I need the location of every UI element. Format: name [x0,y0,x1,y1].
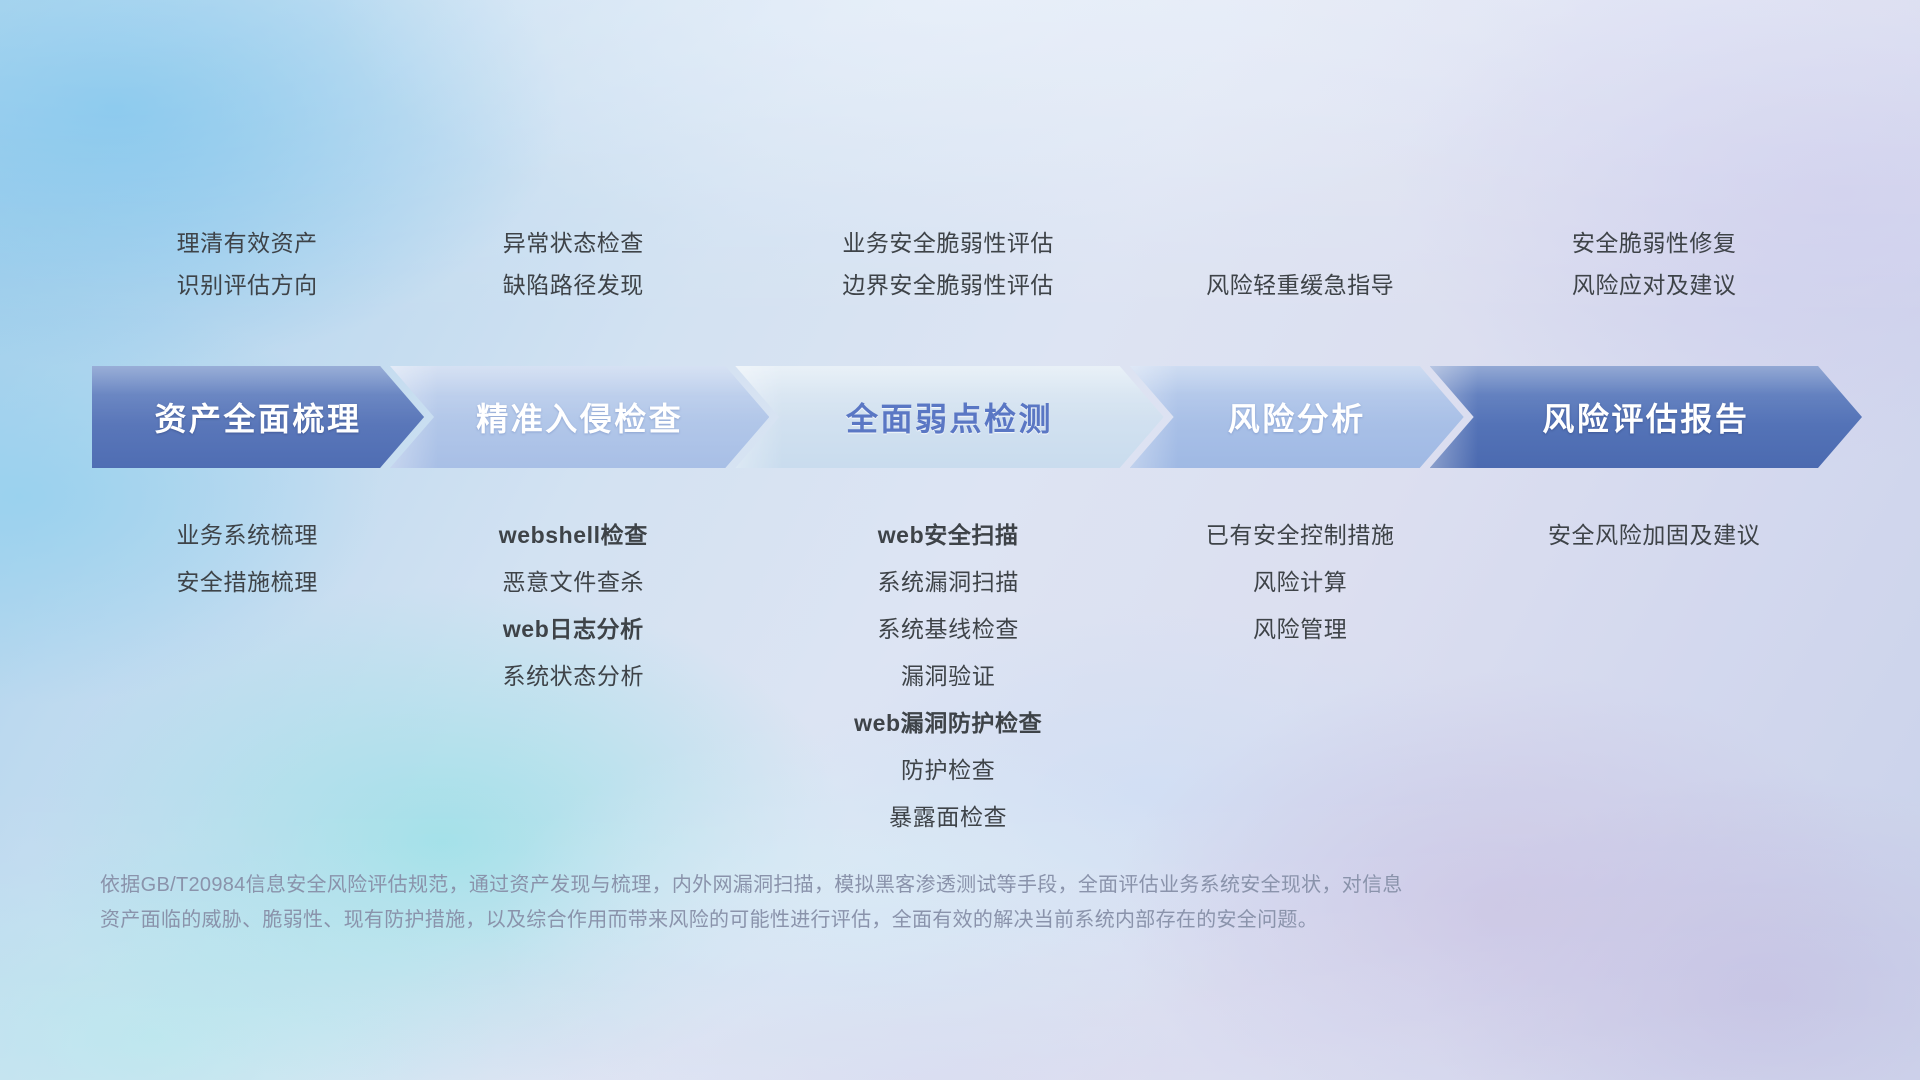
infographic-canvas: 理清有效资产识别评估方向异常状态检查缺陷路径发现业务安全脆弱性评估边界安全脆弱性… [0,0,1920,1080]
task-item: 系统状态分析 [502,660,644,692]
outcome-column-asset-inventory: 理清有效资产识别评估方向 [96,228,398,300]
task-item: 系统漏洞扫描 [877,566,1019,598]
task-item: 已有安全控制措施 [1206,519,1395,551]
task-column-asset-inventory: 业务系统梳理安全措施梳理 [96,505,398,598]
task-item: 漏洞验证 [901,660,995,692]
stage-chevron-risk-report[interactable]: 风险评估报告 [1430,366,1862,468]
task-item: 业务系统梳理 [176,519,318,551]
outcome-text: 异常状态检查 [503,228,644,258]
stage-chevron-risk-analysis[interactable]: 风险分析 [1130,366,1464,468]
outcome-column-risk-report: 安全脆弱性修复风险应对及建议 [1452,228,1856,300]
task-column-weakness-detection: web安全扫描系统漏洞扫描系统基线检查漏洞验证web漏洞防护检查防护检查暴露面检… [748,505,1148,833]
task-column-risk-analysis: 已有安全控制措施风险计算风险管理 [1148,505,1452,645]
task-item: 防护检查 [901,754,995,786]
outcome-text: 缺陷路径发现 [503,270,644,300]
stage-title: 全面弱点检测 [846,394,1053,440]
outcome-text: 边界安全脆弱性评估 [842,270,1054,300]
task-item: webshell检查 [499,519,648,551]
stage-chevron-asset-inventory[interactable]: 资产全面梳理 [92,366,424,468]
task-item: 风险计算 [1253,566,1347,598]
task-column-intrusion-check: webshell检查恶意文件查杀web日志分析系统状态分析 [398,505,748,692]
task-item: 安全措施梳理 [176,566,318,598]
task-item: web漏洞防护检查 [854,707,1042,739]
footer-line-2: 资产面临的威胁、脆弱性、现有防护措施，以及综合作用而带来风险的可能性进行评估，全… [100,903,1700,938]
stage-outcomes-row: 理清有效资产识别评估方向异常状态检查缺陷路径发现业务安全脆弱性评估边界安全脆弱性… [96,228,1856,300]
outcome-column-intrusion-check: 异常状态检查缺陷路径发现 [398,228,748,300]
footer-description: 依据GB/T20984信息安全风险评估规范，通过资产发现与梳理，内外网漏洞扫描，… [100,868,1700,938]
task-item: 风险管理 [1253,613,1347,645]
task-item: 恶意文件查杀 [502,566,644,598]
stage-chevron-intrusion-check[interactable]: 精准入侵检查 [390,366,769,468]
stage-title: 风险评估报告 [1542,394,1749,440]
task-item: web安全扫描 [878,519,1019,551]
process-chevron-band: 资产全面梳理精准入侵检查全面弱点检测风险分析风险评估报告 [92,366,1862,468]
outcome-text: 安全脆弱性修复 [1572,228,1737,258]
content-frame: 理清有效资产识别评估方向异常状态检查缺陷路径发现业务安全脆弱性评估边界安全脆弱性… [0,0,1920,1080]
outcome-column-weakness-detection: 业务安全脆弱性评估边界安全脆弱性评估 [748,228,1148,300]
outcome-text: 业务安全脆弱性评估 [842,228,1054,258]
outcome-text: 识别评估方向 [177,270,318,300]
task-item: 系统基线检查 [877,613,1019,645]
stage-title: 资产全面梳理 [155,394,362,440]
stage-chevron-weakness-detection[interactable]: 全面弱点检测 [735,366,1163,468]
task-item: 安全风险加固及建议 [1548,519,1760,551]
outcome-text: 理清有效资产 [177,228,318,258]
stage-title: 风险分析 [1228,394,1366,440]
task-column-risk-report: 安全风险加固及建议 [1452,505,1856,551]
footer-line-1: 依据GB/T20984信息安全风险评估规范，通过资产发现与梳理，内外网漏洞扫描，… [100,868,1700,903]
outcome-text: 风险轻重缓急指导 [1206,270,1394,300]
outcome-text: 风险应对及建议 [1572,270,1737,300]
outcome-column-risk-analysis: 风险轻重缓急指导 [1148,270,1452,300]
task-item: web日志分析 [503,613,644,645]
stage-title: 精准入侵检查 [476,394,683,440]
stage-tasks-row: 业务系统梳理安全措施梳理webshell检查恶意文件查杀web日志分析系统状态分… [96,505,1856,833]
task-item: 暴露面检查 [889,801,1007,833]
